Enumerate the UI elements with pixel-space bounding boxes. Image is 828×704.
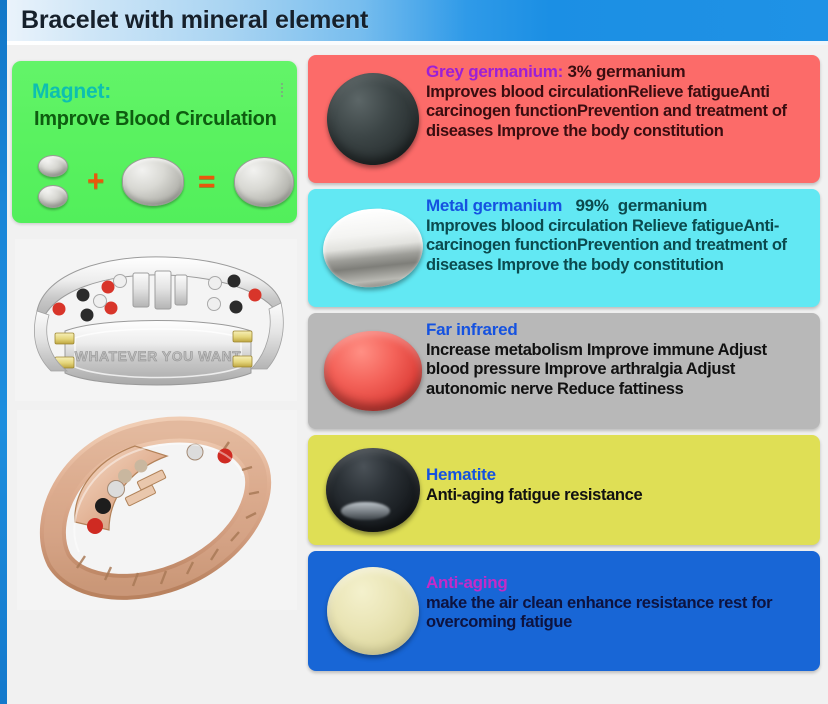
equals-symbol: = [198, 167, 216, 197]
anti-aging-title: Anti-aging [426, 573, 508, 592]
small-magnet-disc-top-icon [38, 155, 68, 177]
panel-grey-germanium[interactable]: Grey germanium: 3% germanium Improves bl… [308, 55, 820, 183]
infographic-poster: Bracelet with mineral element Magnet: Im… [0, 0, 828, 704]
hematite-body: Anti-aging fatigue resistance [426, 486, 810, 505]
magnet-equation-row: + = [12, 149, 297, 219]
panel-hematite[interactable]: Hematite Anti-aging fatigue resistance [308, 435, 820, 545]
anti-aging-text: Anti-aging make the air clean enhance re… [426, 573, 810, 633]
left-blue-rail [0, 0, 7, 704]
metal-germanium-stone-icon [319, 204, 427, 292]
grey-germanium-stone-wrap [318, 55, 428, 183]
far-infrared-title: Far infrared [426, 320, 517, 339]
poster-content: Magnet: Improve Blood Circulation + = [7, 45, 828, 704]
large-magnet-disc-icon [234, 157, 294, 207]
magnet-card: Magnet: Improve Blood Circulation + = [12, 61, 297, 223]
far-infrared-body: Increase metabolism Improve immune Adjus… [426, 341, 810, 399]
anti-aging-body: make the air clean enhance resistance re… [426, 594, 810, 633]
small-magnet-disc-bottom-icon [38, 185, 68, 208]
left-column: Magnet: Improve Blood Circulation + = [7, 45, 305, 704]
hematite-stone-icon [326, 448, 420, 532]
plus-symbol: + [87, 167, 105, 197]
grey-germanium-stone-icon [323, 69, 423, 169]
right-column: Grey germanium: 3% germanium Improves bl… [305, 45, 828, 704]
metal-germanium-stone-wrap [318, 189, 428, 307]
panel-far-infrared[interactable]: Far infrared Increase metabolism Improve… [308, 313, 820, 429]
bracelet-engraving-text: WHATEVER YOU WANT [75, 348, 242, 364]
poster-header: Bracelet with mineral element [7, 0, 828, 41]
metal-germanium-title: Metal germanium [426, 196, 562, 215]
silver-bracelet-illustration: WHATEVER YOU WANT [15, 239, 297, 401]
copper-bracelet-image [17, 410, 297, 610]
silver-bracelet-image: WHATEVER YOU WANT [15, 239, 297, 401]
far-infrared-stone-wrap [318, 313, 428, 429]
grey-germanium-text: Grey germanium: 3% germanium Improves bl… [426, 62, 810, 141]
metal-germanium-title-tail: 99% germanium [562, 196, 707, 215]
panel-metal-germanium[interactable]: Metal germanium 99% germanium Improves b… [308, 189, 820, 307]
hematite-text: Hematite Anti-aging fatigue resistance [426, 465, 810, 505]
panel-anti-aging[interactable]: Anti-aging make the air clean enhance re… [308, 551, 820, 671]
grey-germanium-title-tail: 3% germanium [563, 62, 685, 81]
dotted-tick-mark [281, 83, 283, 99]
anti-aging-stone-wrap [318, 551, 428, 671]
far-infrared-stone-icon [324, 331, 422, 411]
copper-bracelet-illustration [17, 410, 297, 610]
grey-germanium-body: Improves blood circulationRelieve fatigu… [426, 83, 810, 141]
grey-germanium-title: Grey germanium: [426, 62, 563, 81]
hematite-stone-wrap [318, 435, 428, 545]
anti-aging-stone-icon [327, 567, 419, 655]
far-infrared-text: Far infrared Increase metabolism Improve… [426, 320, 810, 399]
magnet-card-subtitle: Improve Blood Circulation [34, 108, 277, 131]
metal-germanium-body: Improves blood circulation Relieve fatig… [426, 217, 810, 275]
metal-germanium-text: Metal germanium 99% germanium Improves b… [426, 196, 810, 275]
medium-magnet-disc-icon [122, 157, 184, 206]
hematite-title: Hematite [426, 465, 496, 484]
magnet-card-title: Magnet: [32, 80, 111, 104]
page-title: Bracelet with mineral element [7, 6, 368, 35]
